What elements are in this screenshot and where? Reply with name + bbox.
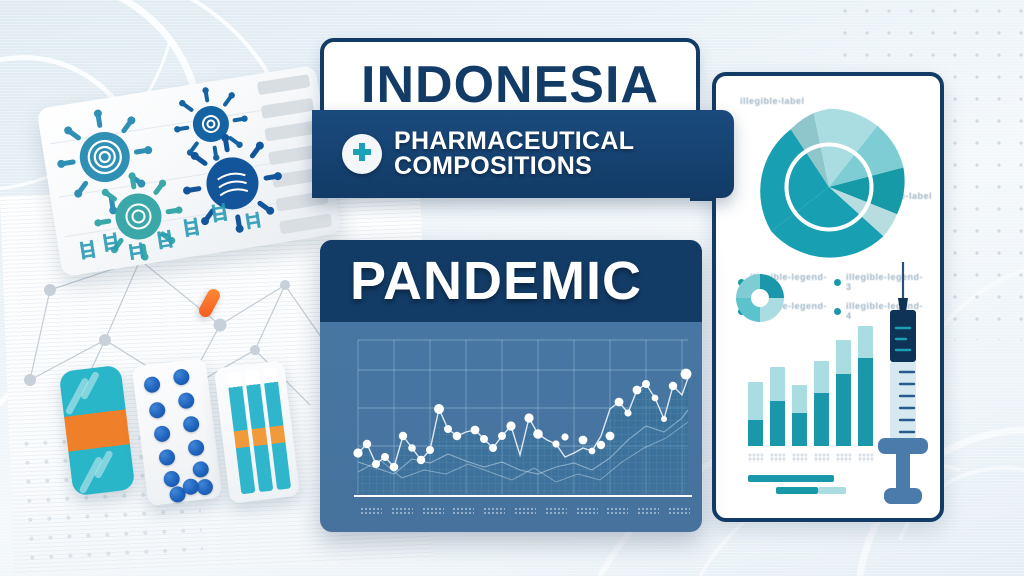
bar-column (858, 326, 873, 446)
syringe-flange (878, 438, 928, 454)
pandemic-header: PANDEMIC (320, 240, 702, 322)
line-chart-svg (320, 322, 702, 532)
subtitle-banner: PHARMACEUTICAL COMPOSITIONS (312, 110, 734, 198)
country-title: INDONESIA (361, 59, 659, 111)
subtitle-text: PHARMACEUTICAL COMPOSITIONS (394, 129, 634, 179)
pie-chart (744, 102, 914, 272)
legend-dot (834, 279, 841, 286)
bar-chart (748, 328, 886, 446)
chart-x-tick-labels (360, 507, 690, 516)
syringe-plunger-handle (884, 488, 922, 504)
bar-chart-tick-labels (748, 453, 886, 462)
bar-column (748, 382, 763, 446)
bar-column (814, 361, 829, 446)
medical-cross-icon (342, 134, 382, 174)
mini-donut-chart (736, 274, 784, 322)
pandemic-banner-card: PANDEMIC (320, 240, 702, 532)
subtitle-line-2: COMPOSITIONS (394, 154, 634, 179)
chart-mesh-overlay (358, 378, 688, 494)
progress-bar-3 (818, 487, 846, 494)
legend-dot (834, 308, 841, 315)
subtitle-line-1: PHARMACEUTICAL (394, 129, 634, 154)
infographic-canvas: illegible-label illegible-label illegibl… (0, 0, 1024, 576)
pandemic-title: PANDEMIC (350, 250, 642, 312)
bar-column (770, 367, 785, 446)
pie-slices (760, 109, 904, 258)
pandemic-line-chart (320, 322, 702, 532)
bar-column (792, 385, 807, 446)
progress-bar-1 (748, 475, 834, 482)
bar-column (836, 340, 851, 446)
progress-bar-2 (776, 487, 818, 494)
syringe-icon (876, 262, 930, 512)
virus-icon-small-navy (168, 81, 253, 166)
